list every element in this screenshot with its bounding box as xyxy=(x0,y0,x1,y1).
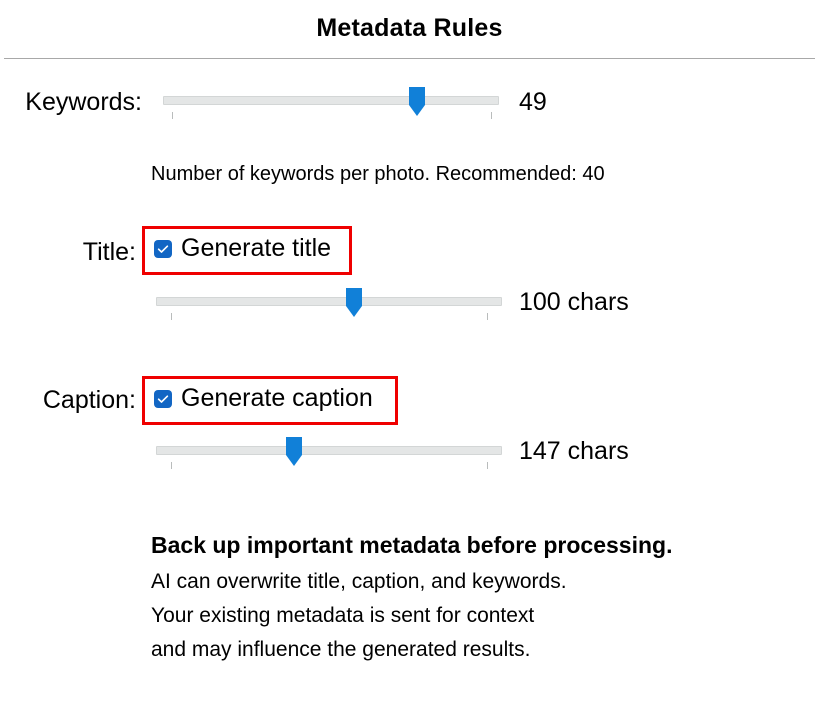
caption-length-slider-track[interactable] xyxy=(156,446,502,455)
caption-length-slider[interactable] xyxy=(156,437,502,467)
dialog-header: Metadata Rules xyxy=(0,0,819,58)
caption-label: Caption: xyxy=(0,388,136,413)
warning-block: Back up important metadata before proces… xyxy=(151,534,791,673)
warning-heading: Back up important metadata before proces… xyxy=(151,534,791,557)
warning-line-3: and may influence the generated results. xyxy=(151,639,791,660)
caption-length-value: 147 chars xyxy=(519,439,629,464)
generate-title-checkbox-row[interactable]: Generate title xyxy=(154,236,331,261)
keywords-slider[interactable] xyxy=(163,87,499,117)
keywords-helper-text: Number of keywords per photo. Recommende… xyxy=(151,164,605,184)
title-length-slider-track[interactable] xyxy=(156,297,502,306)
generate-caption-label: Generate caption xyxy=(181,386,373,411)
title-label: Title: xyxy=(0,240,136,265)
generate-title-label: Generate title xyxy=(181,236,331,261)
keywords-label: Keywords: xyxy=(0,90,142,115)
check-icon[interactable] xyxy=(154,390,172,408)
title-length-slider-tick-max xyxy=(487,313,488,320)
title-length-slider-tick-min xyxy=(171,313,172,320)
keywords-slider-track[interactable] xyxy=(163,96,499,105)
keywords-slider-tick-min xyxy=(172,112,173,119)
caption-length-slider-tick-min xyxy=(171,462,172,469)
title-length-slider[interactable] xyxy=(156,288,502,318)
check-icon[interactable] xyxy=(154,240,172,258)
page-title: Metadata Rules xyxy=(0,14,819,43)
generate-caption-checkbox-row[interactable]: Generate caption xyxy=(154,386,373,411)
warning-line-2: Your existing metadata is sent for conte… xyxy=(151,605,791,626)
caption-length-slider-handle[interactable] xyxy=(286,437,302,466)
title-length-value: 100 chars xyxy=(519,290,629,315)
warning-line-1: AI can overwrite title, caption, and key… xyxy=(151,571,791,592)
keywords-slider-tick-max xyxy=(491,112,492,119)
keywords-value: 49 xyxy=(519,90,547,115)
title-length-slider-handle[interactable] xyxy=(346,288,362,317)
keywords-slider-handle[interactable] xyxy=(409,87,425,116)
header-divider xyxy=(4,58,815,59)
caption-length-slider-tick-max xyxy=(487,462,488,469)
